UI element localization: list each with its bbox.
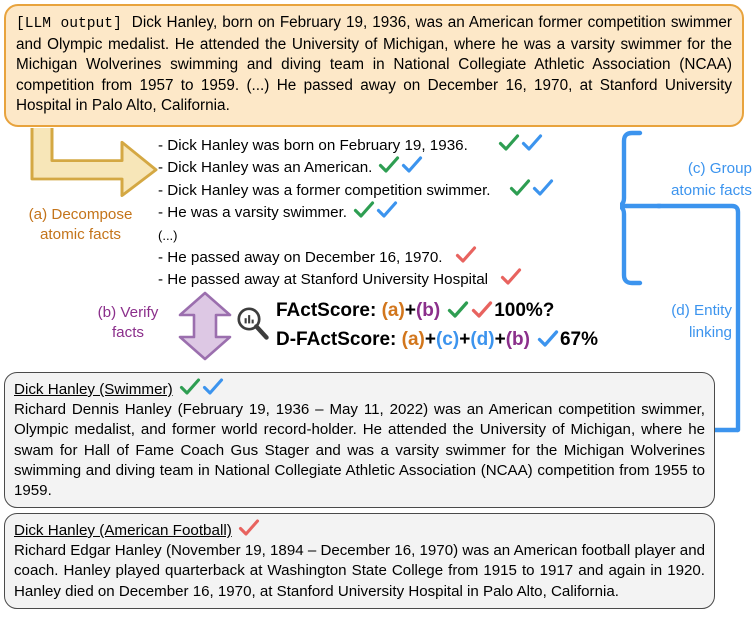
blue-check-icon (202, 378, 224, 396)
llm-output-box: [LLM output] Dick Hanley, born on Februa… (4, 4, 744, 127)
blue-check-icon (401, 156, 423, 174)
factscore-marks (446, 296, 494, 325)
green-check-icon (447, 301, 469, 319)
group-label-line2: atomic facts (652, 180, 752, 202)
figure-canvas: [LLM output] Dick Hanley, born on Februa… (0, 0, 752, 634)
dfactscore-line: D-FActScore: (a)+(c)+(d)+(b) 67% (276, 325, 598, 354)
atomic-fact-text: - He was a varsity swimmer. (158, 204, 347, 221)
dfactscore-value: 67% (560, 329, 598, 350)
factscore-label: FActScore: (276, 300, 376, 321)
verify-double-arrow-icon (176, 291, 234, 366)
decompose-label: (a) Decompose atomic facts (8, 205, 153, 245)
wiki-title-marks (238, 519, 261, 541)
dfactscore-marks (536, 325, 560, 354)
atomic-fact-item: - He was a varsity swimmer. (158, 201, 628, 223)
entity-linking-label: (d) Entity linking (620, 300, 732, 344)
llm-output-prefix: [LLM output] (16, 16, 122, 32)
dfactscore-formula: (a)+(c)+(d)+(b) (402, 329, 530, 350)
red-check-icon (500, 268, 522, 286)
atomic-fact-marks (509, 179, 555, 202)
wiki-title-row: Dick Hanley (American Football) (14, 519, 705, 540)
green-check-icon (509, 179, 531, 197)
atomic-fact-item: - Dick Hanley was a former competition s… (158, 179, 628, 201)
atomic-fact-text: - Dick Hanley was born on February 19, 1… (158, 137, 468, 154)
atomic-fact-text: - He passed away at Stanford University … (158, 271, 488, 288)
factscore-formula: (a)+(b) (382, 300, 441, 321)
green-check-icon (378, 156, 400, 174)
atomic-fact-marks (353, 201, 399, 224)
score-block: FActScore: (a)+(b) 100%? D-FActScore: (a… (276, 296, 598, 354)
group-atomic-facts-label: (c) Group atomic facts (652, 158, 752, 202)
wiki-article-card-swimmer: Dick Hanley (Swimmer) Richard Dennis Han… (4, 372, 715, 508)
blue-check-icon (376, 201, 398, 219)
wiki-article-body: Richard Dennis Hanley (February 19, 1936… (14, 400, 705, 501)
green-check-icon (498, 134, 520, 152)
decompose-label-line2: atomic facts (8, 225, 153, 245)
blue-check-icon (537, 330, 559, 348)
atomic-fact-text: - Dick Hanley was a former competition s… (158, 182, 491, 199)
atomic-fact-marks (498, 134, 544, 157)
atomic-fact-text: (...) (158, 228, 178, 243)
atomic-fact-item: - Dick Hanley was born on February 19, 1… (158, 134, 628, 156)
group-label-line1: (c) Group (652, 158, 752, 180)
green-check-icon (179, 378, 201, 396)
dfactscore-label: D-FActScore: (276, 329, 396, 350)
wiki-title-marks (179, 378, 225, 400)
red-check-icon (455, 246, 477, 264)
wiki-article-card-football: Dick Hanley (American Football) Richard … (4, 513, 715, 609)
llm-output-text: Dick Hanley, born on February 19, 1936, … (16, 14, 732, 114)
atomic-fact-item: - He passed away on December 16, 1970. (158, 246, 628, 268)
magnifier-chart-icon (236, 306, 270, 347)
atomic-fact-marks (378, 156, 424, 179)
entity-label-line1: (d) Entity (620, 300, 732, 322)
blue-check-icon (532, 179, 554, 197)
wiki-article-title[interactable]: Dick Hanley (American Football) (14, 521, 232, 541)
atomic-fact-ellipsis: (...) (158, 223, 628, 246)
atomic-fact-text: - He passed away on December 16, 1970. (158, 249, 443, 266)
atomic-fact-text: - Dick Hanley was an American. (158, 159, 372, 176)
verify-label-line2: facts (80, 323, 176, 343)
factscore-value: 100%? (494, 300, 554, 321)
atomic-facts-list: - Dick Hanley was born on February 19, 1… (158, 134, 628, 291)
green-check-icon (353, 201, 375, 219)
blue-check-icon (521, 134, 543, 152)
decompose-label-line1: (a) Decompose (8, 205, 153, 225)
atomic-fact-item: - He passed away at Stanford University … (158, 268, 628, 290)
wiki-article-title[interactable]: Dick Hanley (Swimmer) (14, 380, 173, 400)
atomic-fact-item: - Dick Hanley was an American. (158, 156, 628, 178)
verify-facts-label: (b) Verify facts (80, 303, 176, 343)
red-check-icon (471, 301, 493, 319)
atomic-fact-marks (500, 268, 523, 291)
atomic-fact-marks (455, 246, 478, 269)
llm-output-paragraph: [LLM output] Dick Hanley, born on Februa… (16, 13, 732, 117)
decompose-arrow-icon (22, 128, 162, 205)
wiki-article-body: Richard Edgar Hanley (November 19, 1894 … (14, 541, 705, 602)
entity-label-line2: linking (620, 322, 732, 344)
red-check-icon (238, 519, 260, 537)
wiki-title-row: Dick Hanley (Swimmer) (14, 378, 705, 399)
factscore-line: FActScore: (a)+(b) 100%? (276, 296, 598, 325)
verify-label-line1: (b) Verify (80, 303, 176, 323)
